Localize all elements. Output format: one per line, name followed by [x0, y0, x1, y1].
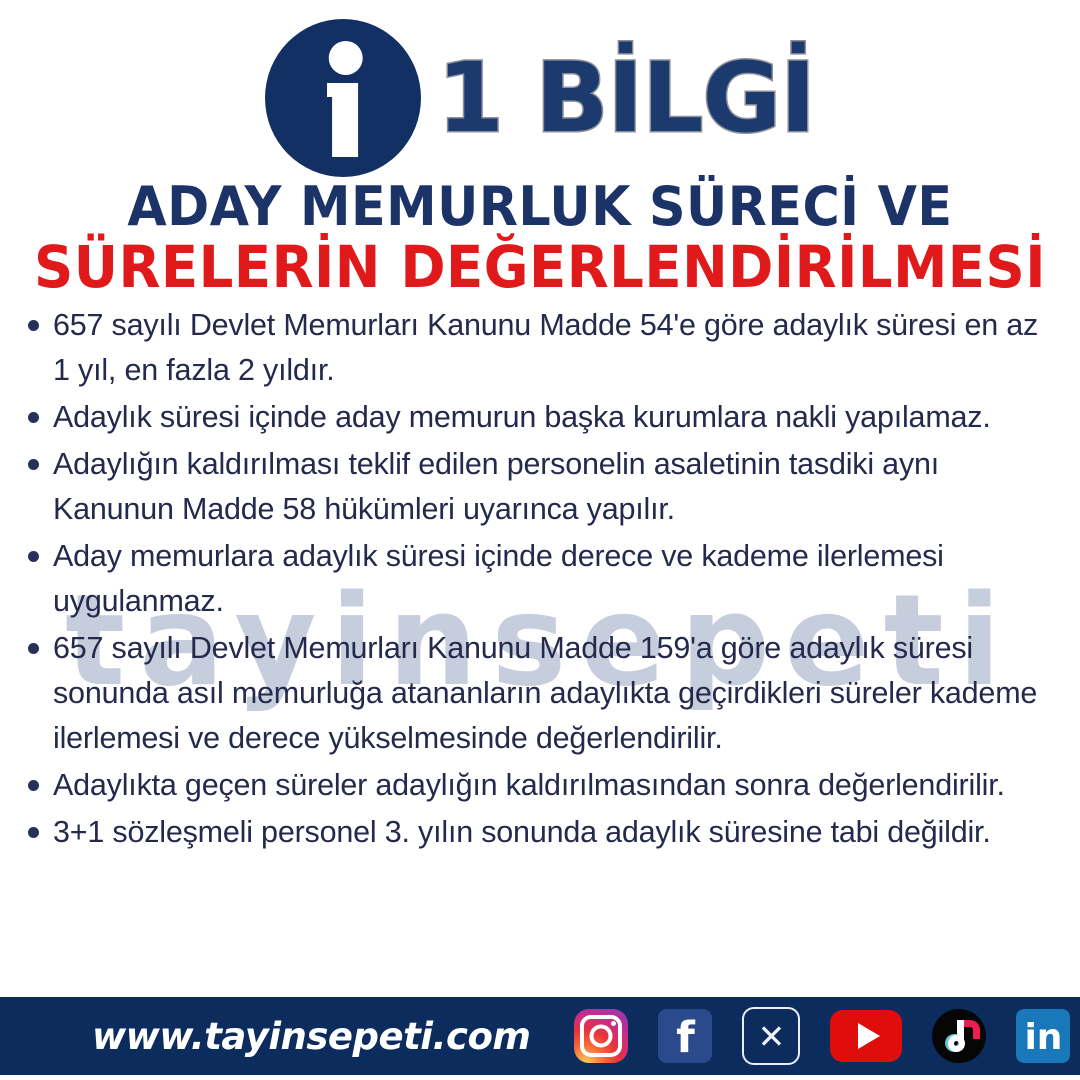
instagram-frame	[580, 1015, 622, 1057]
linkedin-icon[interactable]: in	[1016, 1009, 1070, 1063]
facebook-icon[interactable]: f	[658, 1009, 712, 1063]
tiktok-icon[interactable]	[932, 1009, 986, 1063]
list-item: Adaylık süresi içinde aday memurun başka…	[28, 395, 1056, 440]
bullet-text: Adaylık süresi içinde aday memurun başka…	[53, 395, 1056, 440]
info-icon-stem	[332, 83, 358, 157]
page-title: ADAY MEMURLUK SÜRECİ VE SÜRELERİN DEĞERL…	[0, 178, 1080, 299]
bullet-dot-icon	[28, 551, 39, 562]
instagram-dot	[611, 1021, 616, 1026]
tiktok-note-ball	[948, 1035, 965, 1052]
bullet-text: Aday memurlara adaylık süresi içinde der…	[53, 534, 1056, 624]
list-item: 3+1 sözleşmeli personel 3. yılın sonunda…	[28, 810, 1056, 855]
instagram-icon[interactable]	[574, 1009, 628, 1063]
list-item: 657 sayılı Devlet Memurları Kanunu Madde…	[28, 626, 1056, 761]
brand-label: 1 BİLGİ	[437, 50, 815, 146]
website-url[interactable]: www.tayinsepeti.com	[92, 1015, 530, 1058]
instagram-lens	[590, 1025, 613, 1048]
x-icon[interactable]: ✕	[742, 1007, 800, 1065]
footer-bar: www.tayinsepeti.com f ✕	[0, 997, 1080, 1075]
bullet-list: 657 sayılı Devlet Memurları Kanunu Madde…	[28, 303, 1056, 857]
bullet-text: Adaylıkta geçen süreler adaylığın kaldır…	[53, 763, 1056, 808]
bullet-dot-icon	[28, 780, 39, 791]
title-line-2: SÜRELERİN DEĞERLENDİRİLMESİ	[32, 236, 1047, 299]
bullet-dot-icon	[28, 827, 39, 838]
facebook-glyph: f	[676, 1017, 695, 1060]
list-item: Adaylıkta geçen süreler adaylığın kaldır…	[28, 763, 1056, 808]
bullet-text: 657 sayılı Devlet Memurları Kanunu Madde…	[53, 626, 1056, 761]
tiktok-note-hook	[962, 1020, 980, 1039]
list-item: 657 sayılı Devlet Memurları Kanunu Madde…	[28, 303, 1056, 393]
footer-baseline	[0, 1075, 1080, 1080]
bullet-dot-icon	[28, 643, 39, 654]
bullet-text: Adaylığın kaldırılması teklif edilen per…	[53, 442, 1056, 532]
info-icon-dot	[329, 41, 363, 75]
bullet-dot-icon	[28, 320, 39, 331]
linkedin-glyph: in	[1024, 1020, 1062, 1056]
poster: tayinsepeti 1 BİLGİ ADAY MEMURLUK SÜRECİ…	[0, 0, 1080, 1080]
bullet-dot-icon	[28, 412, 39, 423]
list-item: Adaylığın kaldırılması teklif edilen per…	[28, 442, 1056, 532]
list-item: Aday memurlara adaylık süresi içinde der…	[28, 534, 1056, 624]
bullet-dot-icon	[28, 459, 39, 470]
youtube-icon[interactable]	[830, 1010, 902, 1062]
bullet-text: 3+1 sözleşmeli personel 3. yılın sonunda…	[53, 810, 1056, 855]
tiktok-note-glyph	[944, 1020, 974, 1052]
bullet-text: 657 sayılı Devlet Memurları Kanunu Madde…	[53, 303, 1056, 393]
x-glyph: ✕	[758, 1020, 786, 1053]
title-line-1: ADAY MEMURLUK SÜRECİ VE	[32, 178, 1047, 236]
social-links: f ✕ in	[574, 1007, 1070, 1065]
youtube-play-glyph	[858, 1023, 880, 1049]
info-icon	[265, 19, 421, 177]
header: 1 BİLGİ	[0, 14, 1080, 182]
